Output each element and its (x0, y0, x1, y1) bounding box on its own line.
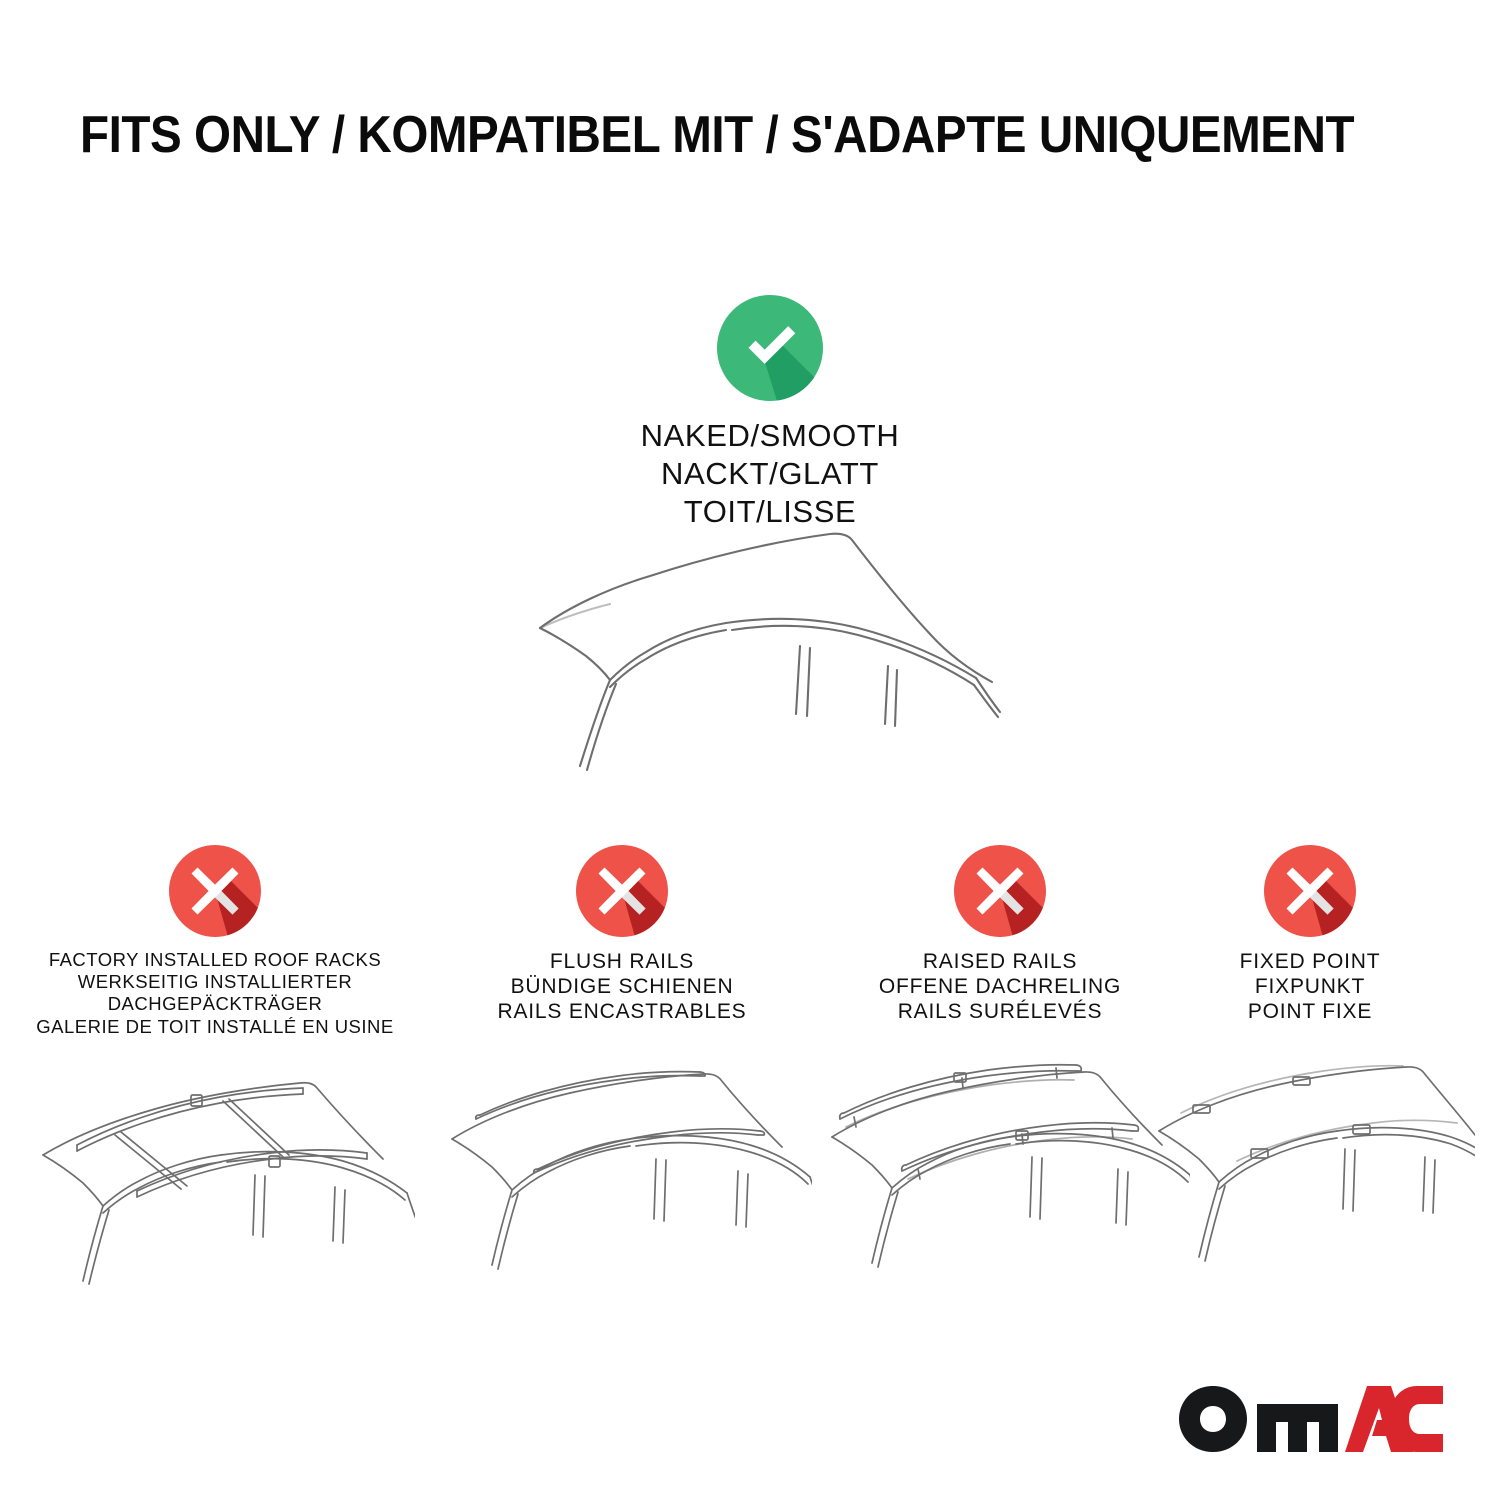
label-line-2: WERKSEITIG INSTALLIERTER (15, 971, 415, 993)
label-line-3: RAILS ENCASTRABLES (422, 999, 822, 1024)
car-roof-flush-rails-illustration (432, 1063, 812, 1303)
x-circle-icon (1264, 845, 1356, 937)
incompatible-label-factory-rack: FACTORY INSTALLED ROOF RACKS WERKSEITIG … (15, 949, 415, 1038)
check-circle-icon (717, 295, 823, 401)
car-roof-fixed-point-illustration (1145, 1057, 1475, 1297)
label-line-1: FLUSH RAILS (422, 949, 822, 974)
page-title: FITS ONLY / KOMPATIBEL MIT / S'ADAPTE UN… (80, 108, 1324, 163)
logo-letter-o (1179, 1386, 1247, 1452)
car-roof-factory-rack-illustration (15, 1063, 415, 1303)
compatible-section: NAKED/SMOOTH NACKT/GLATT TOIT/LISSE (470, 295, 1070, 531)
incompatible-item-flush-rails: FLUSH RAILS BÜNDIGE SCHIENEN RAILS ENCAS… (422, 845, 822, 1025)
incompatible-label-fixed-point: FIXED POINT FIXPUNKT POINT FIXE (1110, 949, 1500, 1025)
incompatible-item-fixed-point: FIXED POINT FIXPUNKT POINT FIXE (1110, 845, 1500, 1025)
compatible-label-line-2: NACKT/GLATT (470, 455, 1070, 493)
compatible-label-line-1: NAKED/SMOOTH (470, 417, 1070, 455)
label-line-3: POINT FIXE (1110, 999, 1500, 1024)
logo-letter-m (1257, 1404, 1338, 1452)
x-circle-icon (576, 845, 668, 937)
incompatible-item-factory-rack: FACTORY INSTALLED ROOF RACKS WERKSEITIG … (15, 845, 415, 1038)
incompatible-label-flush-rails: FLUSH RAILS BÜNDIGE SCHIENEN RAILS ENCAS… (422, 949, 822, 1025)
omac-logo (1177, 1383, 1445, 1455)
x-circle-icon (169, 845, 261, 937)
incompatible-section: FACTORY INSTALLED ROOF RACKS WERKSEITIG … (0, 845, 1500, 1365)
label-line-1: FACTORY INSTALLED ROOF RACKS (15, 949, 415, 971)
car-roof-naked-smooth-illustration (500, 518, 1040, 808)
x-circle-icon (954, 845, 1046, 937)
label-line-2: BÜNDIGE SCHIENEN (422, 974, 822, 999)
label-line-3: DACHGEPÄCKTRÄGER (15, 993, 415, 1015)
logo-letter-c (1389, 1386, 1443, 1452)
label-line-2: FIXPUNKT (1110, 974, 1500, 999)
label-line-4: GALERIE DE TOIT INSTALLÉ EN USINE (15, 1016, 415, 1038)
compatible-label: NAKED/SMOOTH NACKT/GLATT TOIT/LISSE (470, 417, 1070, 531)
car-roof-raised-rails-illustration (810, 1057, 1190, 1297)
label-line-1: FIXED POINT (1110, 949, 1500, 974)
infographic-canvas: FITS ONLY / KOMPATIBEL MIT / S'ADAPTE UN… (0, 0, 1500, 1500)
